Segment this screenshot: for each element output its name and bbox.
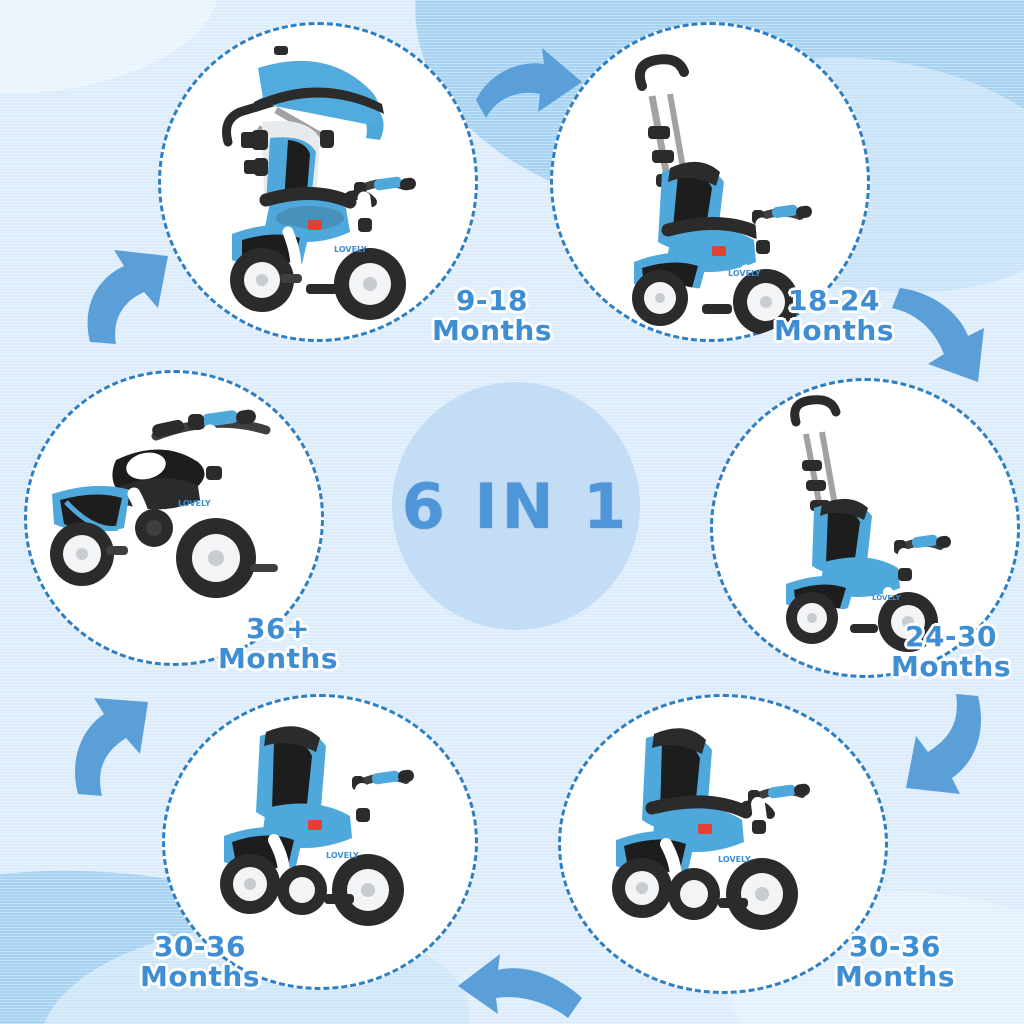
stage-caption-1: 9-18 Months [382, 286, 602, 345]
arrow-5-to-6 [56, 686, 166, 800]
stage-caption-4: 30-36 Months [790, 932, 1000, 991]
stage-caption-5: 30-36 Months [90, 932, 310, 991]
svg-text:LOVELY: LOVELY [178, 499, 211, 508]
stage-caption-2: 18-24 Months [724, 286, 944, 345]
stage-caption-6: 36+ Months [178, 614, 378, 673]
svg-text:LOVELY: LOVELY [326, 851, 359, 860]
center-headline: 6 IN 1 [392, 382, 640, 630]
infographic-canvas: 6 IN 1 [0, 0, 1024, 1024]
svg-text:LOVELY: LOVELY [334, 245, 367, 254]
stage-caption-3: 24-30 Months [866, 622, 1024, 681]
svg-text:LOVELY: LOVELY [728, 269, 761, 278]
arrow-3-to-4 [882, 688, 998, 800]
svg-text:LOVELY: LOVELY [718, 855, 751, 864]
svg-text:LOVELY: LOVELY [872, 594, 902, 602]
